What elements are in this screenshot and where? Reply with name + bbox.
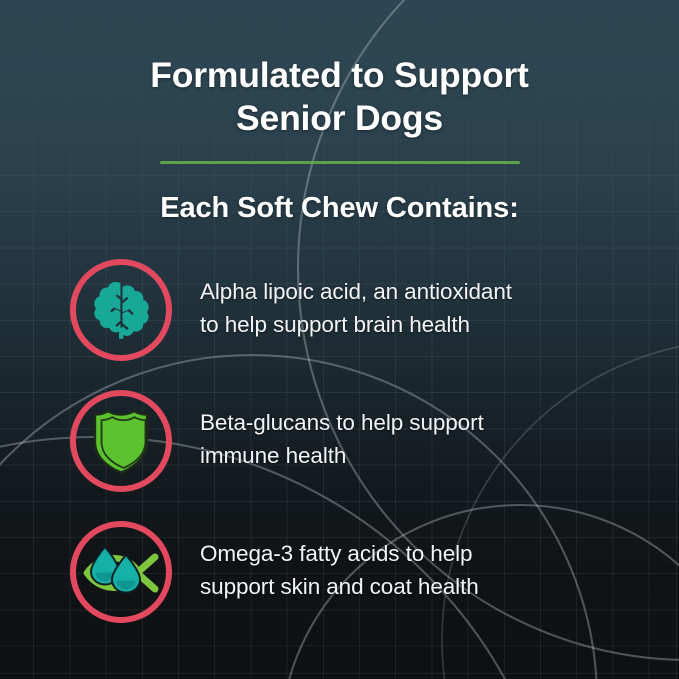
shield-icon bbox=[92, 408, 150, 474]
page-title: Formulated to Support Senior Dogs bbox=[0, 54, 679, 140]
promo-graphic: Formulated to Support Senior Dogs Each S… bbox=[0, 0, 679, 679]
benefit-row: Alpha lipoic acid, an antioxidant to hel… bbox=[0, 257, 679, 367]
benefit-text: Omega-3 fatty acids to help support skin… bbox=[200, 537, 620, 603]
benefit-icon-badge bbox=[70, 390, 172, 492]
benefit-text: Beta-glucans to help support immune heal… bbox=[200, 406, 620, 472]
fish-oil-drops-icon bbox=[83, 543, 159, 601]
divider bbox=[160, 161, 520, 164]
benefit-icon-badge bbox=[70, 521, 172, 623]
benefit-text: Alpha lipoic acid, an antioxidant to hel… bbox=[200, 275, 620, 341]
benefit-icon-badge bbox=[70, 259, 172, 361]
benefit-row: Omega-3 fatty acids to help support skin… bbox=[0, 519, 679, 629]
benefit-row: Beta-glucans to help support immune heal… bbox=[0, 388, 679, 498]
subtitle: Each Soft Chew Contains: bbox=[0, 192, 679, 225]
brain-icon bbox=[89, 280, 153, 340]
